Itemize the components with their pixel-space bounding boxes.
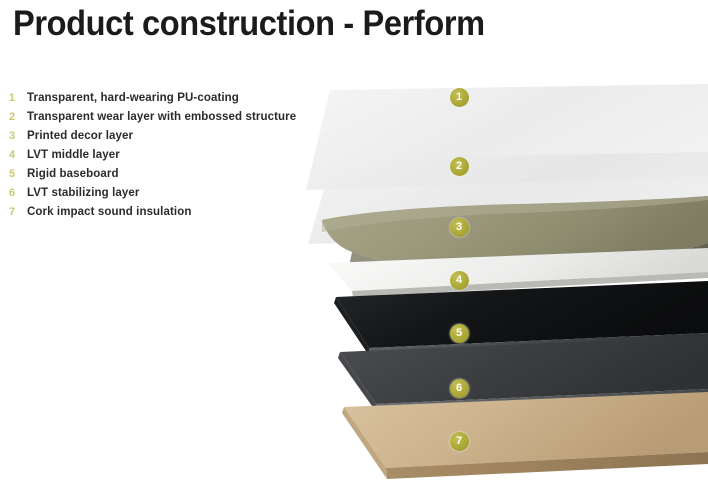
layer-badge-2: 2 bbox=[450, 157, 469, 176]
layer-badge-1: 1 bbox=[450, 88, 469, 107]
layer-shape-1 bbox=[306, 84, 708, 190]
layer-badge-5: 5 bbox=[450, 324, 469, 343]
legend-label-4: LVT middle layer bbox=[27, 146, 120, 165]
layer-badge-4: 4 bbox=[450, 271, 469, 290]
layer-shape-7 bbox=[342, 392, 708, 479]
legend-item-4: 4 LVT middle layer bbox=[0, 146, 330, 165]
legend-label-6: LVT stabilizing layer bbox=[27, 184, 139, 203]
legend-item-1: 1 Transparent, hard-wearing PU-coating bbox=[0, 89, 330, 108]
legend-number-5: 5 bbox=[6, 165, 18, 184]
layer-shape-3 bbox=[322, 196, 708, 287]
layer-badge-6: 6 bbox=[450, 379, 469, 398]
layer-legend-list: 1 Transparent, hard-wearing PU-coating 2… bbox=[0, 89, 330, 222]
layer-shape-6 bbox=[338, 336, 708, 413]
exploded-layer-diagram bbox=[0, 0, 708, 486]
legend-label-7: Cork impact sound insulation bbox=[27, 203, 191, 222]
legend-item-3: 3 Printed decor layer bbox=[0, 127, 330, 146]
legend-item-6: 6 LVT stabilizing layer bbox=[0, 184, 330, 203]
legend-item-7: 7 Cork impact sound insulation bbox=[0, 203, 330, 222]
layer-shape-5 bbox=[334, 281, 708, 357]
legend-label-3: Printed decor layer bbox=[27, 127, 133, 146]
layer-badge-7: 7 bbox=[450, 432, 469, 451]
legend-item-5: 5 Rigid baseboard bbox=[0, 165, 330, 184]
layer-badge-3: 3 bbox=[450, 218, 469, 237]
legend-number-1: 1 bbox=[6, 89, 18, 108]
page-title: Product construction - Perform bbox=[13, 4, 485, 44]
legend-number-2: 2 bbox=[6, 108, 18, 127]
legend-label-5: Rigid baseboard bbox=[27, 165, 119, 184]
legend-label-1: Transparent, hard-wearing PU-coating bbox=[27, 89, 239, 108]
layer-shape-4 bbox=[328, 248, 708, 297]
legend-number-4: 4 bbox=[6, 146, 18, 165]
legend-number-3: 3 bbox=[6, 127, 18, 146]
legend-number-6: 6 bbox=[6, 184, 18, 203]
legend-label-2: Transparent wear layer with embossed str… bbox=[27, 108, 296, 127]
product-construction-infographic: Product construction - Perform bbox=[0, 0, 708, 486]
legend-number-7: 7 bbox=[6, 203, 18, 222]
layer-shape-2 bbox=[308, 152, 708, 244]
legend-item-2: 2 Transparent wear layer with embossed s… bbox=[0, 108, 330, 127]
